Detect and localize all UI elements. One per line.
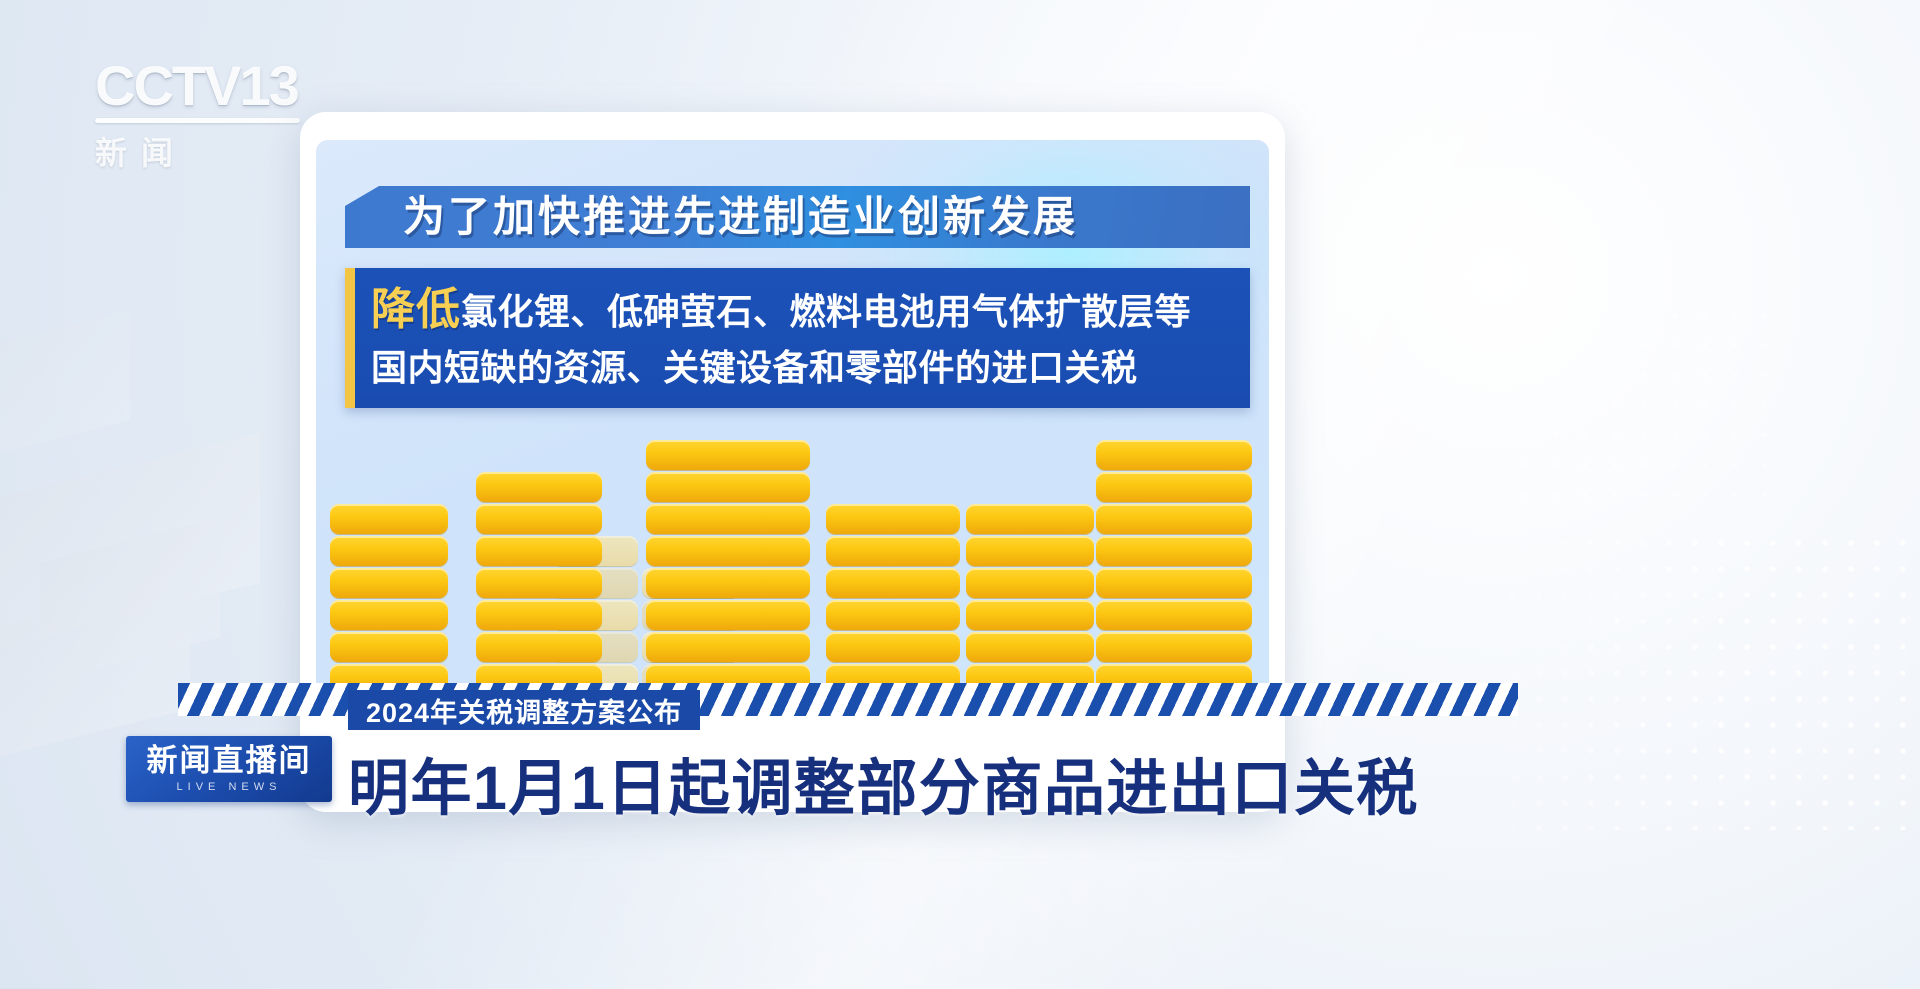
coin [1096, 600, 1252, 630]
policy-box: 降低氯化锂、低砷萤石、燃料电池用气体扩散层等 国内短缺的资源、关键设备和零部件的… [345, 268, 1250, 408]
coin [330, 600, 448, 630]
policy-box-body: 降低氯化锂、低砷萤石、燃料电池用气体扩散层等 国内短缺的资源、关键设备和零部件的… [371, 282, 1240, 396]
coin-illustration [316, 455, 1269, 696]
coin-stack [1096, 440, 1252, 696]
coin [966, 568, 1094, 598]
program-badge-subtitle: LIVE NEWS [177, 781, 282, 793]
coin [966, 536, 1094, 566]
coin-stack [966, 504, 1094, 696]
coin [1096, 440, 1252, 470]
policy-line-1-text: 氯化锂、低砷萤石、燃料电池用气体扩散层等 [461, 291, 1191, 332]
coin [476, 632, 602, 662]
channel-logo-number: 13 [239, 54, 297, 117]
background-dot-pattern [1500, 530, 1920, 830]
coin [646, 440, 810, 470]
coin-stack [330, 504, 448, 696]
background-dot-pattern [1510, 300, 1770, 520]
coin [330, 632, 448, 662]
coin [646, 600, 810, 630]
coin [476, 472, 602, 502]
coin [826, 536, 960, 566]
channel-logo-text: CCTV [95, 54, 239, 117]
program-badge-title: 新闻直播间 [147, 745, 312, 778]
coin [476, 568, 602, 598]
coin [646, 632, 810, 662]
lower-third-kicker: 2024年关税调整方案公布 [348, 690, 700, 730]
coin [1096, 568, 1252, 598]
lower-third-kicker-text: 2024年关税调整方案公布 [366, 691, 682, 730]
headline-ribbon-text: 为了加快推进先进制造业创新发展 [403, 196, 1078, 238]
coin [646, 504, 810, 534]
coin [646, 568, 810, 598]
coin [966, 632, 1094, 662]
coin [330, 536, 448, 566]
lower-third-headline: 明年1月1日起调整部分商品进出口关税 [348, 738, 1419, 827]
coin-stack [646, 440, 810, 696]
coin-stack [826, 504, 960, 696]
coin [1096, 632, 1252, 662]
policy-box-accent-bar [345, 268, 355, 408]
channel-logo-subtitle: 新闻 [95, 128, 325, 174]
coin [966, 600, 1094, 630]
policy-lead-word: 降低 [371, 285, 461, 334]
channel-logo-mark: CCTV13 [95, 58, 325, 114]
coin [826, 600, 960, 630]
coin [476, 536, 602, 566]
coin-stack [476, 472, 602, 696]
coin [1096, 472, 1252, 502]
policy-line-1: 降低氯化锂、低砷萤石、燃料电池用气体扩散层等 [371, 282, 1240, 340]
coin [330, 568, 448, 598]
channel-logo: CCTV13 新闻 [95, 58, 325, 168]
coin [646, 536, 810, 566]
policy-line-2: 国内短缺的资源、关键设备和零部件的进口关税 [371, 340, 1240, 396]
coin [1096, 536, 1252, 566]
coin [1096, 504, 1252, 534]
headline-ribbon: 为了加快推进先进制造业创新发展 [345, 186, 1250, 248]
coin [826, 568, 960, 598]
program-badge: 新闻直播间 LIVE NEWS [126, 736, 332, 802]
coin [826, 632, 960, 662]
channel-logo-underline [95, 118, 300, 123]
coin [476, 600, 602, 630]
coin [646, 472, 810, 502]
coin [330, 504, 448, 534]
coin [826, 504, 960, 534]
coin [966, 504, 1094, 534]
coin [476, 504, 602, 534]
